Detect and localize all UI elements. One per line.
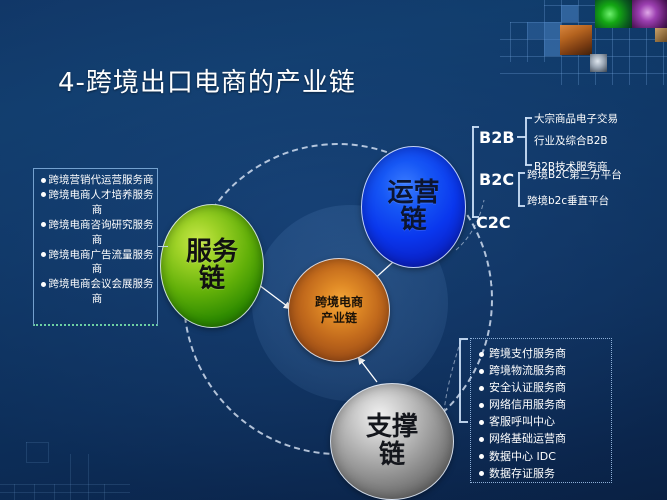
list-item-label: 安全认证服务商: [489, 381, 566, 394]
list-item[interactable]: 跨境物流服务商: [479, 362, 611, 379]
service-chain-callout-box: 跨境营销代运营服务商 跨境电商人才培养服务商 跨境电商咨询研究服务商 跨境电商广…: [33, 168, 158, 326]
tree-node-b2b[interactable]: B2B: [479, 128, 515, 147]
list-item-label: 网络基础运营商: [489, 432, 566, 445]
bullet-icon: [41, 178, 46, 183]
tree-leaf-b2b-1[interactable]: 大宗商品电子交易: [534, 111, 618, 126]
tree-leaf-b2c-2[interactable]: 跨境b2c垂直平台: [527, 193, 609, 208]
list-item[interactable]: 客服呼叫中心: [479, 413, 611, 430]
list-item[interactable]: 跨境电商会议会展服务商: [38, 277, 154, 307]
list-item[interactable]: 跨境电商咨询研究服务商: [38, 218, 154, 248]
bullet-icon: [479, 403, 484, 408]
list-item-label: 网络信用服务商: [489, 398, 566, 411]
list-item-label: 跨境营销代运营服务商: [49, 174, 154, 186]
list-item[interactable]: 网络基础运营商: [479, 430, 611, 447]
sphere-service-label: 服务链: [184, 239, 240, 294]
list-item[interactable]: 数据存证服务: [479, 465, 611, 482]
bullet-icon: [479, 386, 484, 391]
bullet-icon: [41, 192, 46, 197]
list-item-label: 客服呼叫中心: [489, 415, 555, 428]
list-item-label: 数据存证服务: [489, 467, 555, 480]
photo-tile-mouse: [590, 54, 607, 72]
list-item-label: 数据中心 IDC: [489, 450, 556, 463]
support-chain-callout-box: 跨境支付服务商 跨境物流服务商 安全认证服务商 网络信用服务商 客服呼叫中心 网…: [470, 338, 612, 483]
bullet-icon: [479, 352, 484, 357]
list-item-label: 跨境电商会议会展服务商: [49, 278, 154, 305]
bullet-icon: [479, 437, 484, 442]
support-box-bracket: [459, 338, 468, 423]
list-item[interactable]: 网络信用服务商: [479, 396, 611, 413]
bullet-icon: [479, 454, 484, 459]
decorative-grid-bottomleft: [0, 440, 130, 500]
page-title: 4-跨境出口电商的产业链: [58, 62, 356, 99]
tree-node-b2c[interactable]: B2C: [479, 170, 514, 189]
list-item[interactable]: 数据中心 IDC: [479, 448, 611, 465]
tree-node-c2c[interactable]: C2C: [476, 213, 511, 232]
support-chain-list: 跨境支付服务商 跨境物流服务商 安全认证服务商 网络信用服务商 客服呼叫中心 网…: [471, 339, 611, 482]
list-item-label: 跨境电商咨询研究服务商: [49, 219, 154, 246]
photo-tile-edge: [655, 28, 667, 42]
sphere-operation-label: 运营链: [385, 180, 443, 235]
bullet-icon: [479, 420, 484, 425]
tree-leaf-b2c-1[interactable]: 跨境B2C第三方平台: [527, 167, 622, 182]
photo-tile-green: [595, 0, 632, 28]
list-item[interactable]: 安全认证服务商: [479, 379, 611, 396]
sphere-support-chain[interactable]: 支撑链: [330, 383, 454, 500]
list-item[interactable]: 跨境支付服务商: [479, 345, 611, 362]
list-item[interactable]: 跨境电商广告流量服务商: [38, 248, 154, 278]
sphere-center-industry-chain[interactable]: 跨境电商 产业链: [288, 258, 390, 362]
photo-tile-hands: [560, 25, 592, 55]
center-label-line1: 跨境电商: [315, 294, 363, 310]
photo-tile-purple: [632, 0, 667, 28]
bullet-icon: [41, 222, 46, 227]
bullet-icon: [479, 471, 484, 476]
list-item-label: 跨境支付服务商: [489, 347, 566, 360]
list-item-label: 跨境物流服务商: [489, 364, 566, 377]
bullet-icon: [41, 252, 46, 257]
sphere-support-label: 支撑链: [363, 414, 421, 469]
list-item[interactable]: 跨境电商人才培养服务商: [38, 188, 154, 218]
tree-leaf-b2b-2[interactable]: 行业及综合B2B: [534, 133, 608, 148]
service-chain-list: 跨境营销代运营服务商 跨境电商人才培养服务商 跨境电商咨询研究服务商 跨境电商广…: [34, 169, 157, 307]
operation-chain-tree: B2B B2C C2C 大宗商品电子交易 行业及综合B2B B2B技术服务商 跨…: [472, 108, 667, 230]
bullet-icon: [41, 282, 46, 287]
center-label-line2: 产业链: [315, 310, 363, 326]
sphere-service-chain[interactable]: 服务链: [160, 204, 264, 328]
sphere-operation-chain[interactable]: 运营链: [361, 146, 466, 268]
slide-canvas: 4-跨境出口电商的产业链 服务链 运营链 支撑链 跨境电商 产业链: [0, 0, 667, 500]
list-item-label: 跨境电商广告流量服务商: [49, 249, 154, 276]
service-box-connector: [158, 246, 168, 247]
bullet-icon: [479, 369, 484, 374]
list-item[interactable]: 跨境营销代运营服务商: [38, 173, 154, 188]
list-item-label: 跨境电商人才培养服务商: [49, 189, 154, 216]
